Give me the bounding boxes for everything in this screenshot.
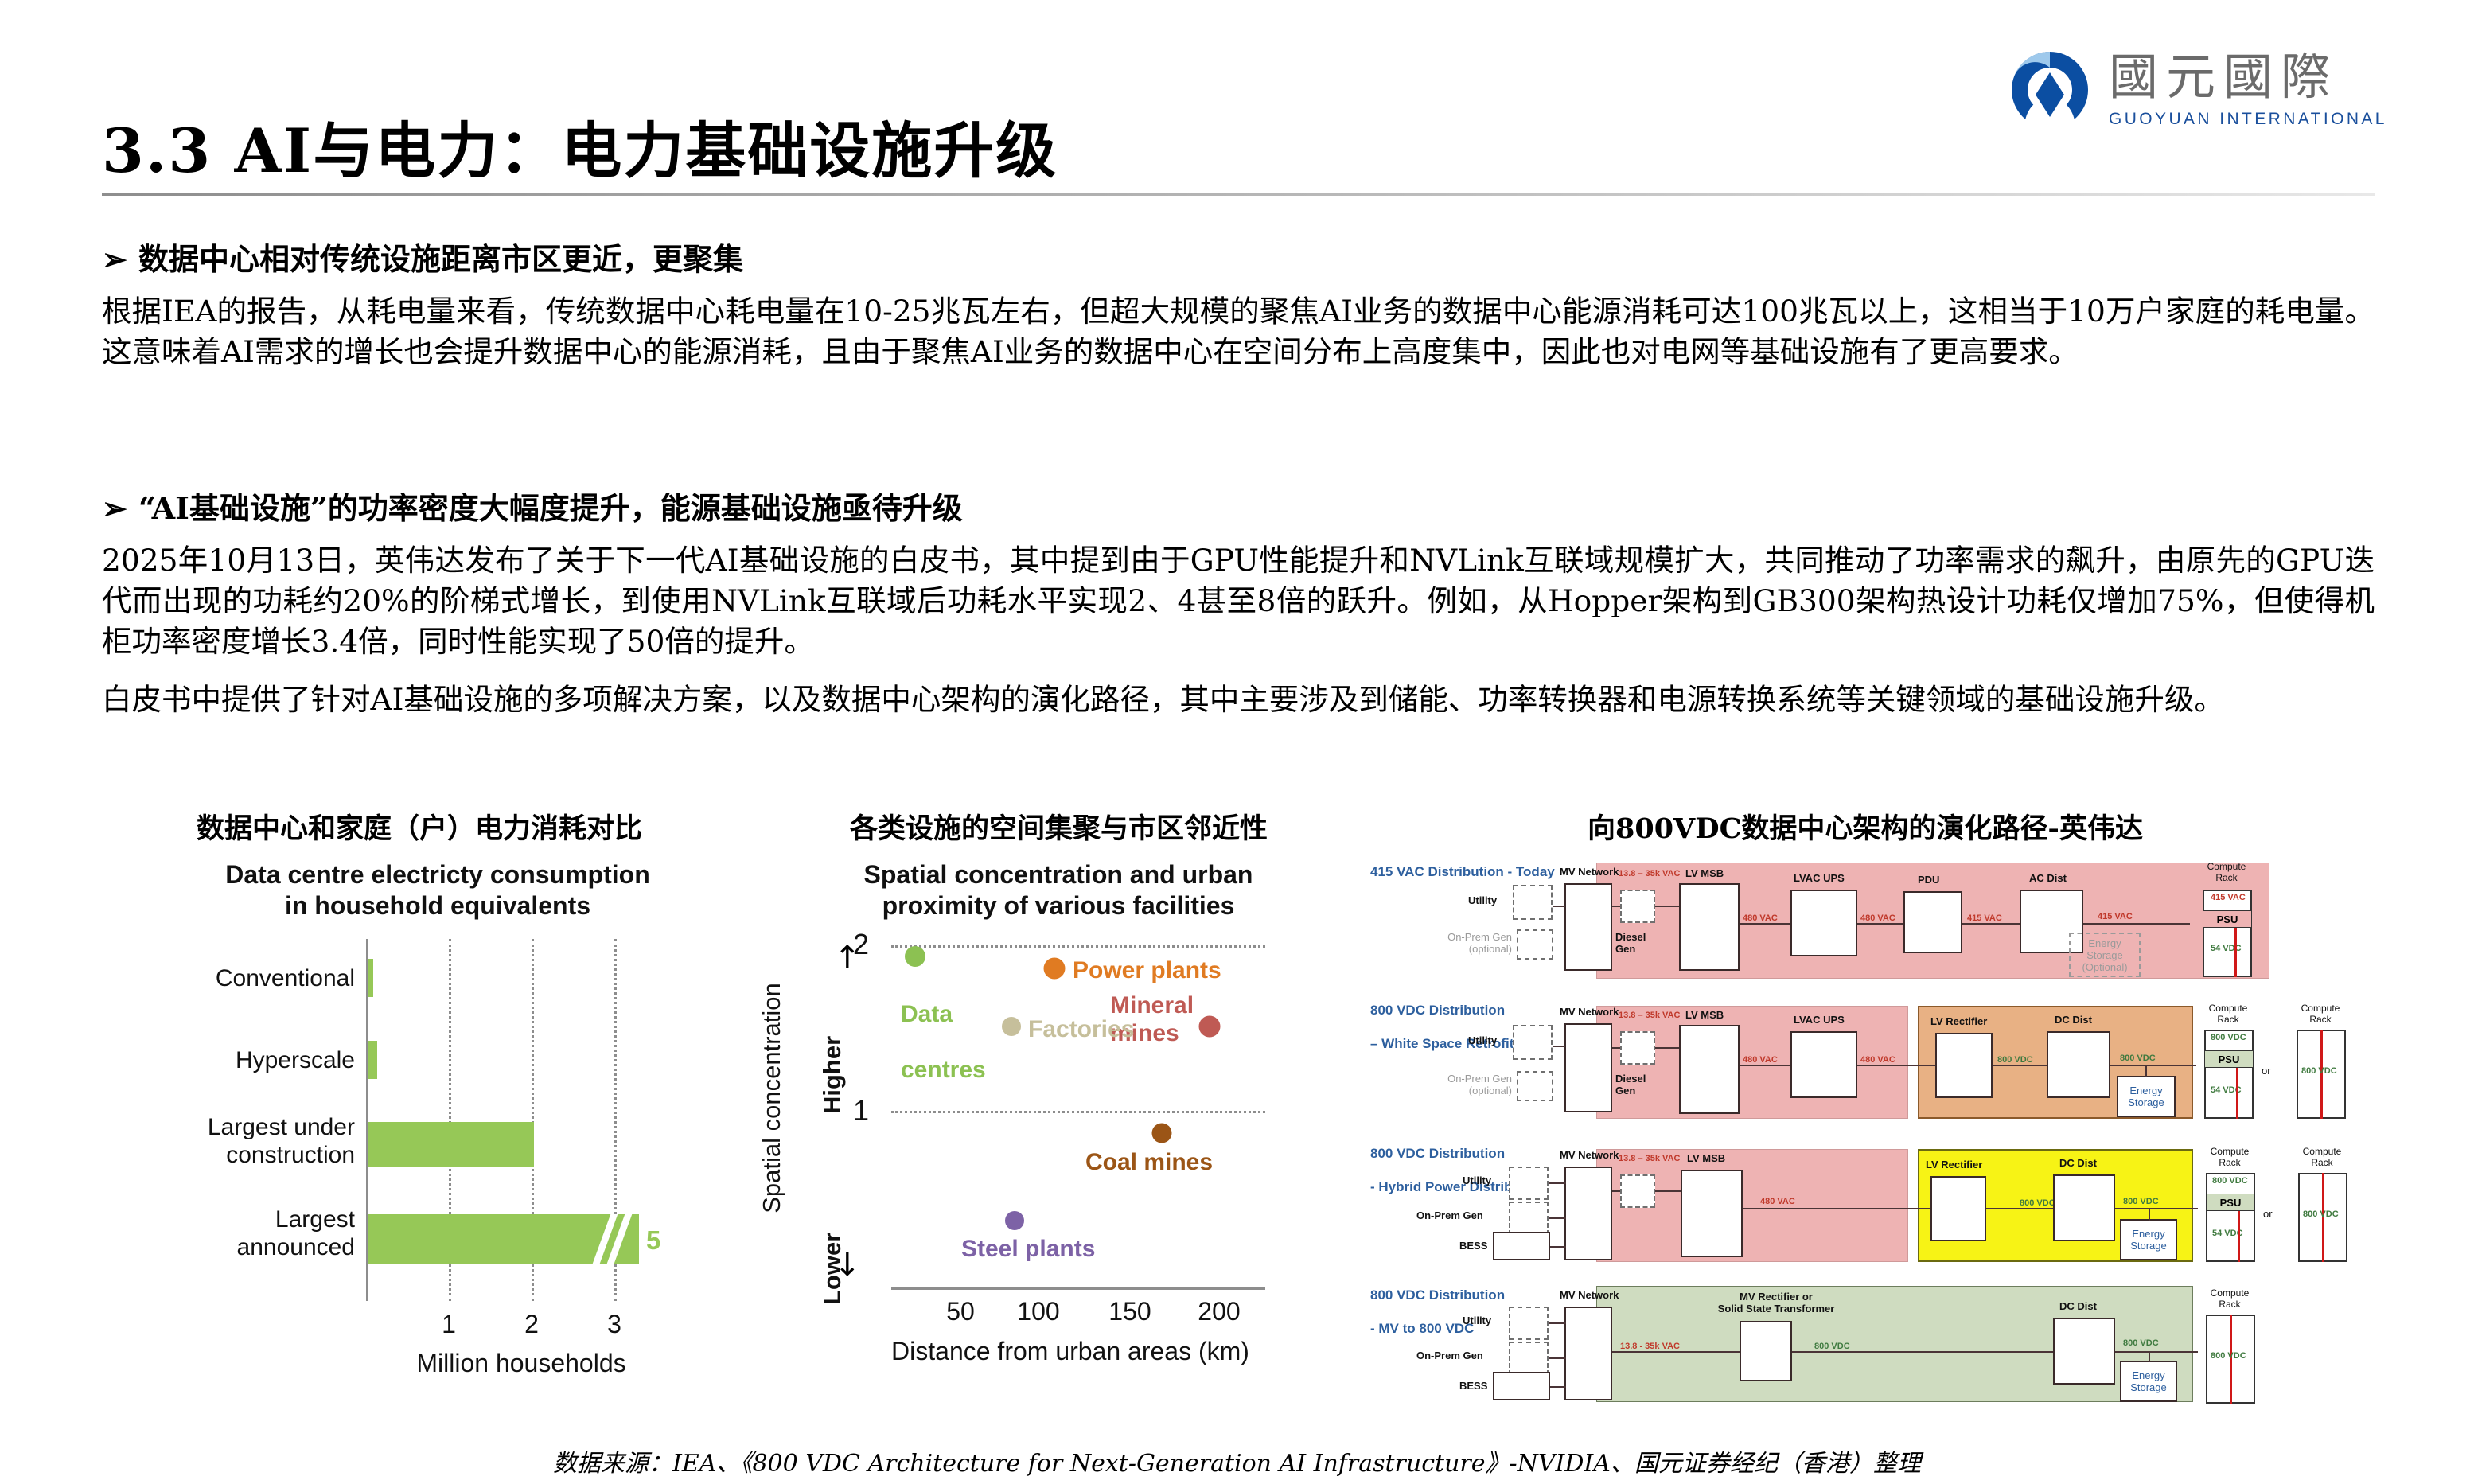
row-2-dc-dist	[2047, 1031, 2110, 1098]
row-1-mv-transformer	[1620, 890, 1655, 923]
row-3-rack-1-psu: PSU	[2207, 1194, 2254, 1211]
row-2-label-mv-network: MV Network	[1560, 1006, 1619, 1018]
row-3-input-onprem-gen: On-Prem Gen	[1416, 1209, 1483, 1221]
row-1-mv-network	[1564, 883, 1612, 971]
row-2-rack-1-psu: PSU	[2205, 1050, 2253, 1068]
row-3-or-label: or	[2263, 1208, 2273, 1220]
row-3-voltage-480: 480 VAC	[1760, 1197, 1795, 1207]
logo-wordmark: 國元國際 GUOYUAN INTERNATIONAL	[2109, 53, 2387, 127]
bar-label-conventional: Conventional	[216, 964, 355, 992]
row-4-wire-estorage-drop	[2149, 1351, 2150, 1362]
row-3-rack-1-top-tag: 800 VDC	[2212, 1176, 2248, 1186]
row-4-wire-rect-to-dcdist	[1792, 1351, 2053, 1353]
row-1-lvac-ups	[1790, 890, 1857, 956]
row-4-wire-dcdist-to-rack	[2115, 1351, 2198, 1353]
row-2-gen-transformer	[1517, 1071, 1553, 1101]
row-3-label-mv-network: MV Network	[1560, 1149, 1619, 1161]
section-1-paragraph-1: 根据IEA的报告，从耗电量来看，传统数据中心耗电量在10-25兆瓦左右，但超大规…	[102, 291, 2375, 372]
row-2-wire-msb-to-ups	[1740, 1065, 1790, 1066]
scatter-point-coal-mines	[1152, 1124, 1172, 1143]
row-4-dc-dist	[2053, 1318, 2115, 1385]
row-1-wire-acdist-to-rack	[2083, 923, 2190, 925]
bar-chart-plot-area: Conventional Hyperscale Largest under co…	[366, 939, 676, 1301]
row-1-rack-top-tag: 415 VAC	[2211, 893, 2246, 903]
bar-conventional	[368, 959, 373, 997]
row-1-voltage-mv: 13.8 – 35k VAC	[1619, 869, 1680, 879]
section-2-paragraph-2: 白皮书中提供了针对AI基础设施的多项解决方案，以及数据中心架构的演化路径，其中主…	[102, 680, 2375, 720]
guoyuan-logo-mark	[2008, 49, 2091, 131]
row-1-label-lvac-ups: LVAC UPS	[1794, 872, 1845, 884]
row-2-input-utility: Utility	[1468, 1034, 1497, 1046]
bar-label-hyperscale: Hyperscale	[236, 1046, 355, 1074]
scatter-chart-title-line-1: Spatial concentration and urban	[843, 859, 1273, 890]
title-divider	[102, 193, 2375, 196]
row-2-lv-msb	[1679, 1025, 1740, 1114]
row-1-utility-transformer	[1513, 885, 1553, 920]
section-1-heading-text: 数据中心相对传统设施距离市区更近，更聚集	[138, 241, 743, 277]
scatter-label-power-plants: Power plants	[1073, 956, 1221, 984]
row-3-label-lv-rectifier: LV Rectifier	[1926, 1159, 1982, 1170]
source-note: 数据来源：IEA、《800 VDC Architecture for Next-…	[0, 1443, 2474, 1478]
row-4-label-mv-rectifier: MV Rectifier or Solid State Transformer	[1681, 1291, 1872, 1315]
row-4-heading: 800 VDC Distribution - MV to 800 VDC	[1370, 1270, 1505, 1337]
row-1-heading: 415 VAC Distribution - Today	[1370, 847, 1555, 880]
row-2-bus-wire	[1553, 1046, 1565, 1047]
scatter-plot-area: Data centres Power plants Mineral mines …	[891, 937, 1265, 1287]
row-1-wire-pdu-to-acdist	[1962, 923, 2020, 925]
bar-hyperscale	[368, 1041, 377, 1079]
row-4-gen-transformer	[1509, 1342, 1549, 1375]
section-1-heading: ➢数据中心相对传统设施距离市区更近，更聚集	[102, 235, 743, 278]
scatter-label-steel-plants: Steel plants	[961, 1235, 1095, 1263]
row-4-rack-caption: Compute Rack	[2199, 1287, 2260, 1310]
scatter-x-axis-label: Distance from urban areas (km)	[859, 1337, 1281, 1366]
row-1-input-utility: Utility	[1468, 894, 1497, 906]
row-3-rack-1-caption: Compute Rack	[2199, 1146, 2260, 1168]
row-4-label-mv-network: MV Network	[1560, 1289, 1619, 1301]
bullet-arrow-icon: ➢	[102, 241, 138, 277]
row-4-label-dc-dist: DC Dist	[2059, 1300, 2097, 1312]
row-4-wire-gen	[1549, 1357, 1566, 1359]
row-3-rack-2-caption: Compute Rack	[2292, 1146, 2352, 1168]
row-1-pdu	[1903, 891, 1962, 953]
row-3-voltage-mv: 13.8 – 35k VAC	[1619, 1154, 1680, 1164]
row-3-wire-mv-to-tr	[1612, 1190, 1620, 1192]
bar-label-line: Largest under	[208, 1113, 355, 1141]
arrow-down-icon: ↓	[834, 1249, 861, 1281]
row-3-utility-transformer	[1509, 1167, 1549, 1200]
row-1-label-pdu: PDU	[1918, 874, 1939, 886]
row-2-wire-ups-to-rect	[1857, 1065, 1935, 1066]
row-1-wire-mv-to-tr	[1612, 906, 1620, 907]
row-2-label-lv-msb: LV MSB	[1685, 1009, 1724, 1021]
row-2-wire-estorage-drop	[2145, 1065, 2147, 1077]
scatter-chart: Spatial concentration and urban proximit…	[764, 859, 1281, 1385]
row-3-dc-dist	[2053, 1174, 2115, 1241]
row-3-wire-tr-to-msb	[1655, 1190, 1681, 1192]
row-3-input-bess: BESS	[1459, 1240, 1487, 1252]
row-3-wire-rect-to-dcdist	[1986, 1208, 2053, 1209]
diagram-row-mv-to-800vdc: 800 VDC Distribution - MV to 800 VDC Uti…	[1369, 1268, 2427, 1408]
row-2-wire-mv-to-tr	[1612, 1047, 1620, 1049]
row-1-gen-transformer	[1517, 929, 1553, 960]
scatter-point-steel-plants	[1005, 1211, 1024, 1230]
bar-label-line: Conventional	[216, 964, 355, 992]
diagram-panel-title: 向800VDC数据中心架构的演化路径-英伟达	[1588, 806, 2143, 847]
row-2-lvac-ups	[1790, 1031, 1857, 1098]
row-2-voltage-800-2: 800 VDC	[2120, 1054, 2156, 1064]
row-4-utility-transformer	[1509, 1307, 1549, 1340]
row-2-energy-storage: Energy Storage	[2117, 1076, 2176, 1117]
row-2-mv-network	[1564, 1023, 1612, 1112]
scatter-x-axis	[891, 1287, 1265, 1290]
row-2-voltage-mv: 13.8 – 35k VAC	[1619, 1011, 1680, 1021]
row-3-wire-msb-to-rect	[1743, 1208, 1930, 1209]
bar-xtick-3: 3	[607, 1310, 621, 1339]
row-3-wire-estorage-drop	[2149, 1208, 2150, 1221]
bar-label-largest-under-construction: Largest under construction	[208, 1113, 355, 1169]
section-2-heading-text: “AI基础设施”的功率密度大幅度提升，能源基础设施亟待升级	[138, 490, 963, 526]
row-4-input-utility: Utility	[1463, 1315, 1491, 1326]
row-2-label-lv-rectifier: LV Rectifier	[1930, 1015, 1987, 1027]
bar-label-line: Hyperscale	[236, 1046, 355, 1074]
bar-xtick-2: 2	[524, 1310, 539, 1339]
row-3-lv-rectifier	[1930, 1176, 1986, 1241]
row-3-energy-storage: Energy Storage	[2120, 1219, 2177, 1260]
row-3-mv-network	[1564, 1167, 1612, 1260]
row-2-input-onprem-gen: On-Prem Gen (optional)	[1416, 1073, 1512, 1096]
row-4-wire-mv-to-rect	[1612, 1351, 1740, 1353]
logo-english-name: GUOYUAN INTERNATIONAL	[2109, 111, 2387, 127]
row-1-wire-msb-to-ups	[1740, 923, 1790, 925]
row-1-rack-psu: PSU	[2203, 910, 2251, 928]
row-4-bess-block	[1493, 1372, 1550, 1400]
bar-chart-title: Data centre electricty consumption in ho…	[199, 859, 676, 921]
row-4-input-onprem-gen: On-Prem Gen	[1416, 1350, 1483, 1361]
bar-value-label-largest-announced: 5	[646, 1225, 660, 1256]
row-4-mv-network	[1564, 1307, 1612, 1400]
scatter-ytick-1: 1	[853, 1094, 869, 1128]
row-2-label-dc-dist: DC Dist	[2055, 1014, 2092, 1026]
row-2-label-lvac-ups: LVAC UPS	[1794, 1014, 1845, 1026]
row-2-utility-transformer	[1513, 1025, 1553, 1060]
row-4-mv-rectifier	[1740, 1321, 1792, 1381]
page-title: 3.3 AI与电力：电力基础设施升级	[102, 102, 1058, 189]
scatter-xtick-200: 200	[1198, 1297, 1240, 1326]
scatter-gridline-y2	[891, 945, 1265, 948]
row-1-wire-tr-to-msb	[1655, 906, 1679, 907]
row-2-rack-2-bottom-tag: 800 VDC	[2301, 1066, 2337, 1077]
row-3-gen-transformer	[1509, 1202, 1549, 1235]
row-3-wire-gen	[1549, 1217, 1566, 1219]
row-4-rack-bottom-tag: 800 VDC	[2211, 1351, 2246, 1361]
row-3-rack-2-bottom-tag: 800 VDC	[2303, 1209, 2339, 1220]
row-2-lv-rectifier	[1935, 1033, 1993, 1098]
bar-label-line: construction	[208, 1141, 355, 1169]
scatter-label-line: centres	[901, 1056, 986, 1084]
scatter-ytick-2: 2	[853, 928, 869, 961]
row-3-label-lv-msb: LV MSB	[1687, 1152, 1725, 1164]
bar-chart-x-axis-label: Million households	[366, 1349, 676, 1378]
row-2-wire-tr-to-msb	[1655, 1047, 1679, 1049]
bar-label-line: announced	[237, 1233, 355, 1261]
bullet-arrow-icon: ➢	[102, 490, 138, 526]
scatter-xtick-150: 150	[1108, 1297, 1151, 1326]
bar-chart-title-line-1: Data centre electricty consumption	[199, 859, 676, 890]
row-3-input-utility: Utility	[1463, 1174, 1491, 1186]
scatter-label-line: Data	[901, 1000, 986, 1028]
row-2-rack-1-top-tag: 800 VDC	[2211, 1033, 2246, 1043]
row-4-energy-storage: Energy Storage	[2120, 1361, 2177, 1402]
row-1-wire-ups-to-pdu	[1857, 923, 1903, 925]
row-4-wire-bess	[1550, 1386, 1566, 1388]
row-3-label-dc-dist: DC Dist	[2059, 1157, 2097, 1169]
row-2-mv-transformer	[1620, 1031, 1655, 1065]
scatter-label-coal-mines: Coal mines	[1085, 1148, 1213, 1176]
row-2-wire-dcdist-to-rack	[2110, 1065, 2196, 1066]
scatter-label-data-centres: Data centres	[901, 972, 986, 1112]
scatter-label-factories: Factories	[1028, 1015, 1134, 1043]
row-2-or-label: or	[2262, 1065, 2271, 1077]
scatter-panel-title: 各类设施的空间集聚与市区邻近性	[850, 806, 1268, 847]
row-3-wire-utility	[1549, 1182, 1566, 1184]
bar-panel-title: 数据中心和家庭（户）电力消耗对比	[197, 806, 642, 847]
scatter-xtick-50: 50	[946, 1297, 975, 1326]
row-3-wire-dcdist-to-rack	[2115, 1208, 2198, 1209]
row-4-wire-utility	[1549, 1322, 1566, 1324]
bar-chart: Data centre electricty consumption in ho…	[167, 859, 692, 1385]
row-3-bess-block	[1493, 1232, 1550, 1260]
scatter-point-power-plants	[1044, 958, 1066, 980]
row-2-rack-1-caption: Compute Rack	[2198, 1003, 2258, 1025]
scatter-y-axis-label: Spatial concentration	[758, 983, 786, 1213]
section-2-paragraph-1: 2025年10月13日，英伟达发布了关于下一代AI基础设施的白皮书，其中提到由于…	[102, 540, 2375, 662]
row-3-voltage-800-2: 800 VDC	[2123, 1197, 2159, 1207]
row-3-rack-1-redline	[2238, 1211, 2240, 1262]
row-3-mv-transformer	[1620, 1174, 1655, 1208]
row-1-energy-storage: Energy Storage (Optional)	[2069, 933, 2141, 977]
row-1-voltage-415-2: 415 VAC	[2098, 912, 2133, 922]
section-2-heading: ➢“AI基础设施”的功率密度大幅度提升，能源基础设施亟待升级	[102, 484, 963, 528]
scatter-chart-title-line-2: proximity of various facilities	[843, 890, 1273, 921]
bar-label-largest-announced: Largest announced	[237, 1206, 355, 1261]
scatter-xtick-100: 100	[1017, 1297, 1059, 1326]
row-2-rack-2-caption: Compute Rack	[2290, 1003, 2351, 1025]
row-1-label-mv-network: MV Network	[1560, 866, 1619, 878]
scatter-chart-title: Spatial concentration and urban proximit…	[843, 859, 1273, 921]
brand-logo: 國元國際 GUOYUAN INTERNATIONAL	[2008, 46, 2416, 134]
scatter-point-data-centres	[905, 946, 925, 967]
row-3-lv-msb	[1681, 1170, 1743, 1257]
bar-label-line: Largest	[237, 1206, 355, 1233]
row-4-voltage-800-2: 800 VDC	[2123, 1338, 2159, 1349]
bar-largest-under-construction	[368, 1122, 534, 1167]
bar-chart-title-line-2: in household equivalents	[199, 890, 676, 921]
row-1-label-ac-dist: AC Dist	[2029, 872, 2067, 884]
row-1-rack-caption: Compute Rack	[2196, 861, 2257, 883]
scatter-y-high-label: Higher	[818, 1036, 847, 1114]
diagram-row-800vdc-retrofit: 800 VDC Distribution – White Space Retro…	[1369, 983, 2427, 1124]
diagram-row-415vac: 415 VAC Distribution - Today Utility On-…	[1369, 843, 2427, 980]
row-1-label-lv-msb: LV MSB	[1685, 867, 1724, 879]
row-1-bus-wire	[1553, 906, 1565, 907]
logo-chinese-name: 國元國際	[2109, 53, 2387, 103]
diagram-row-800vdc-hybrid: 800 VDC Distribution - Hybrid Power Dist…	[1369, 1127, 2427, 1267]
nvidia-architecture-diagram: 415 VAC Distribution - Today Utility On-…	[1369, 843, 2427, 1416]
row-2-rack-1-redline	[2236, 1068, 2238, 1119]
row-2-input-diesel-gen: Diesel Gen	[1615, 1073, 1646, 1096]
row-1-input-diesel-gen: Diesel Gen	[1615, 931, 1646, 955]
row-1-rack-redline	[2234, 928, 2237, 977]
row-1-lv-msb	[1679, 883, 1740, 971]
scatter-point-factories	[1002, 1017, 1021, 1036]
bar-xtick-1: 1	[442, 1310, 456, 1339]
row-2-wire-rect-to-dcdist	[1993, 1065, 2047, 1066]
row-4-input-bess: BESS	[1459, 1380, 1487, 1392]
row-3-wire-bess	[1550, 1246, 1566, 1248]
row-1-input-onprem-gen: On-Prem Gen (optional)	[1416, 931, 1512, 955]
